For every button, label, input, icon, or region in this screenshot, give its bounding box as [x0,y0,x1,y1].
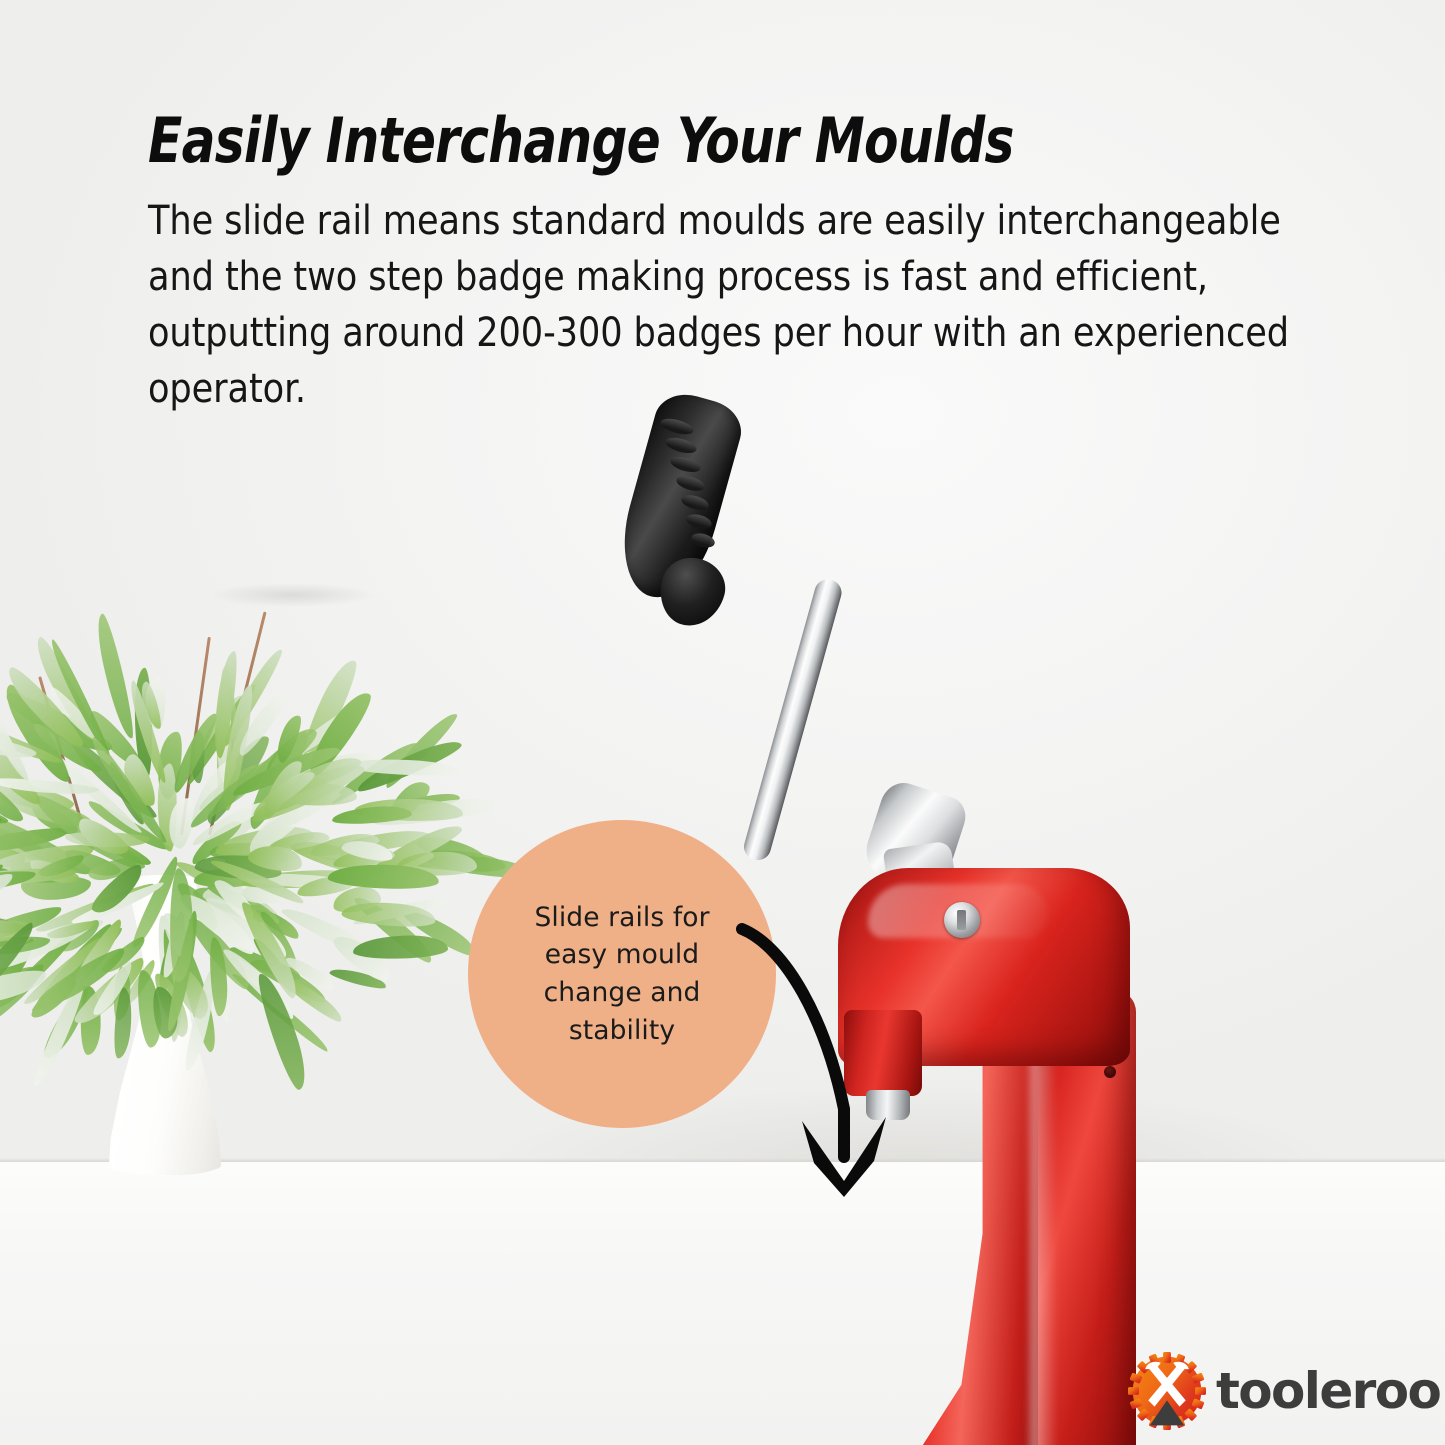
curved-arrow-shaft [742,929,844,1157]
product-feature-banner: Slide rails for easy mould change and st… [0,0,1445,1445]
page-title: Easily Interchange Your Moulds [148,104,1014,177]
press-column-highlight [1030,1030,1056,1445]
gear-with-crossed-hammer-and-wrench-icon [1126,1352,1208,1430]
brand-wordmark: tooleroo [1216,1366,1440,1416]
press-column-screw [1104,1066,1116,1078]
curved-arrow [740,925,940,1215]
body-paragraph: The slide rail means standard moulds are… [148,193,1327,417]
lever-rod [741,576,845,863]
press-head-bolt [944,902,980,938]
plant-arrangement [0,575,500,1195]
brand-logo: tooleroo [1126,1352,1422,1430]
badge-press-machine [600,390,1220,1380]
plant-leaf [353,936,448,960]
